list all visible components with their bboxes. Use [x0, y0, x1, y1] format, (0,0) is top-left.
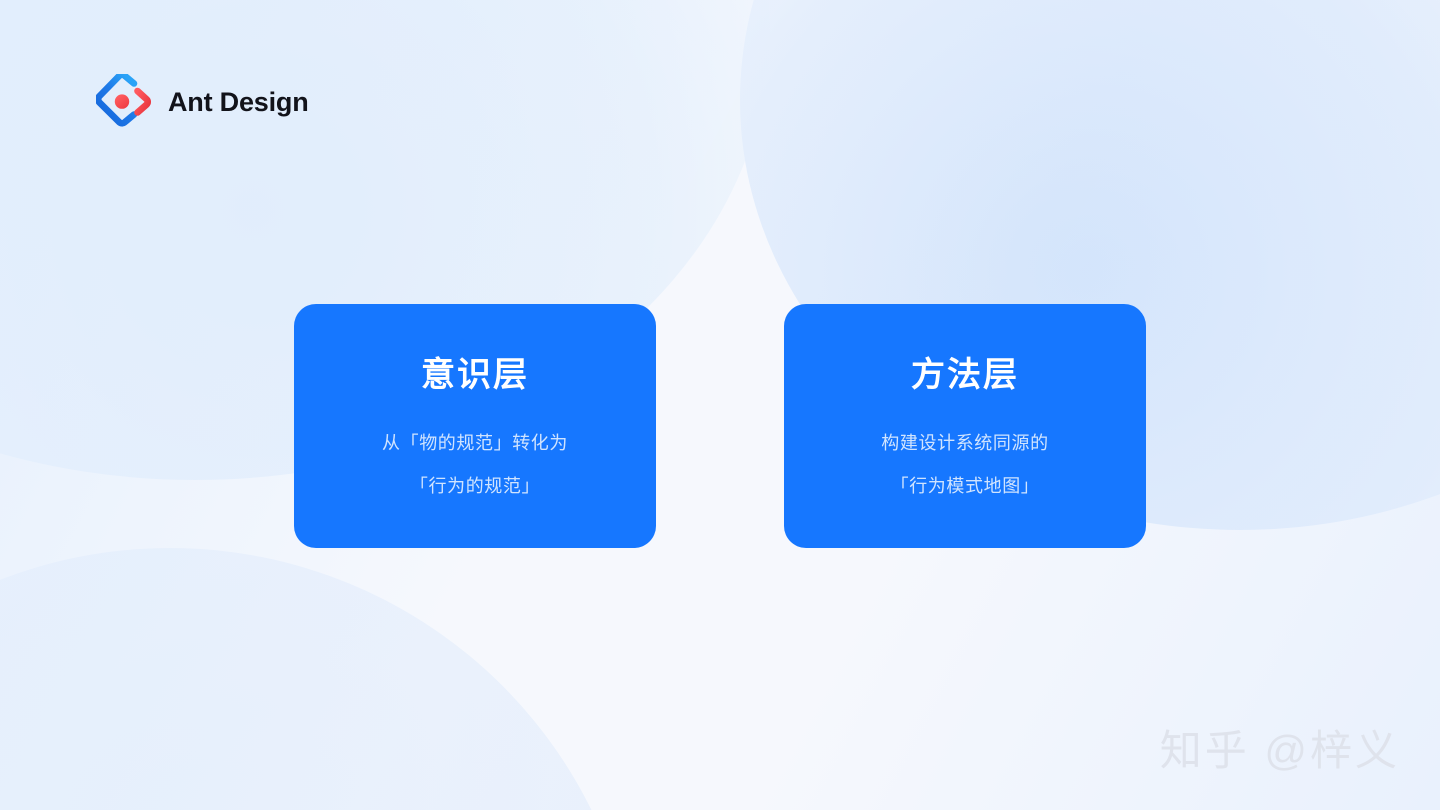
layer-card-group: 意识层 从「物的规范」转化为 「行为的规范」 方法层 构建设计系统同源的 「行为… — [294, 304, 1146, 548]
card-title: 意识层 — [421, 358, 529, 392]
card-awareness-layer[interactable]: 意识层 从「物的规范」转化为 「行为的规范」 — [294, 304, 656, 548]
brand-lockup: Ant Design — [96, 74, 309, 130]
card-description-line: 构建设计系统同源的 — [881, 422, 1048, 465]
card-description: 从「物的规范」转化为 「行为的规范」 — [382, 422, 568, 508]
slide-canvas: Ant Design 意识层 从「物的规范」转化为 「行为的规范」 方法层 构建… — [0, 0, 1440, 810]
watermark: 知乎 @梓义 — [1160, 717, 1400, 778]
card-description-line: 从「物的规范」转化为 — [382, 422, 568, 465]
ant-design-logo-icon — [96, 74, 152, 130]
card-method-layer[interactable]: 方法层 构建设计系统同源的 「行为模式地图」 — [784, 304, 1146, 548]
card-description: 构建设计系统同源的 「行为模式地图」 — [881, 422, 1048, 508]
card-description-line: 「行为的规范」 — [382, 465, 568, 508]
background-blob-bottom-left — [0, 548, 640, 810]
card-title: 方法层 — [911, 358, 1019, 392]
brand-name: Ant Design — [168, 87, 309, 118]
card-description-line: 「行为模式地图」 — [881, 465, 1048, 508]
